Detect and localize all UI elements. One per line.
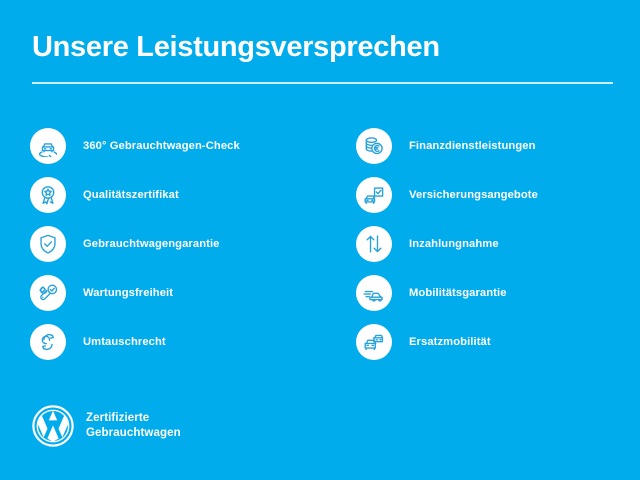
list-item-label: Umtauschrecht [83, 335, 166, 349]
two-cars-icon [356, 324, 392, 360]
header: Unsere Leistungsversprechen [32, 30, 614, 84]
volkswagen-logo-icon [31, 404, 75, 448]
brand-text-line-2: Gebrauchtwagen [86, 426, 181, 441]
list-item-label: Mobilitätsgarantie [409, 286, 507, 300]
list-item-label: Qualitätszertifikat [83, 188, 179, 202]
list-item-label: Versicherungsangebote [409, 188, 538, 202]
list-item: Ersatzmobilität [356, 317, 640, 366]
list-item-label: Ersatzmobilität [409, 335, 491, 349]
list-item: Inzahlungnahme [356, 219, 640, 268]
title-divider [32, 82, 613, 84]
list-item-label: Wartungsfreiheit [83, 286, 173, 300]
promises-grid: 360° Gebrauchtwagen-Check Qualitätszerti… [0, 121, 640, 366]
list-item: Versicherungsangebote [356, 170, 640, 219]
car-speed-lines-icon [356, 275, 392, 311]
arrows-up-down-icon [356, 226, 392, 262]
brand-text-line-1: Zertifizierte [86, 411, 181, 426]
list-item-label: Gebrauchtwagengarantie [83, 237, 219, 251]
list-item-label: 360° Gebrauchtwagen-Check [83, 139, 240, 153]
brand-text: Zertifizierte Gebrauchtwagen [86, 411, 181, 441]
coins-euro-icon [356, 128, 392, 164]
list-item: Qualitätszertifikat [30, 170, 350, 219]
list-item: Mobilitätsgarantie [356, 268, 640, 317]
list-item: 360° Gebrauchtwagen-Check [30, 121, 350, 170]
page-title: Unsere Leistungsversprechen [32, 30, 614, 64]
car-check-360-icon [30, 128, 66, 164]
list-item: Gebrauchtwagengarantie [30, 219, 350, 268]
shield-check-icon [30, 226, 66, 262]
list-item: Umtauschrecht [30, 317, 350, 366]
exchange-arrows-icon [30, 324, 66, 360]
promises-column-left: 360° Gebrauchtwagen-Check Qualitätszerti… [30, 121, 350, 366]
car-document-check-icon [356, 177, 392, 213]
list-item-label: Inzahlungnahme [409, 237, 499, 251]
promises-column-right: Finanzdienstleistungen Versicherungsange… [356, 121, 640, 366]
wrench-check-icon [30, 275, 66, 311]
list-item-label: Finanzdienstleistungen [409, 139, 536, 153]
list-item: Finanzdienstleistungen [356, 121, 640, 170]
brand-lockup: Zertifizierte Gebrauchtwagen [31, 404, 181, 448]
list-item: Wartungsfreiheit [30, 268, 350, 317]
award-rosette-star-icon [30, 177, 66, 213]
slide-canvas: Unsere Leistungsversprechen [0, 0, 640, 480]
